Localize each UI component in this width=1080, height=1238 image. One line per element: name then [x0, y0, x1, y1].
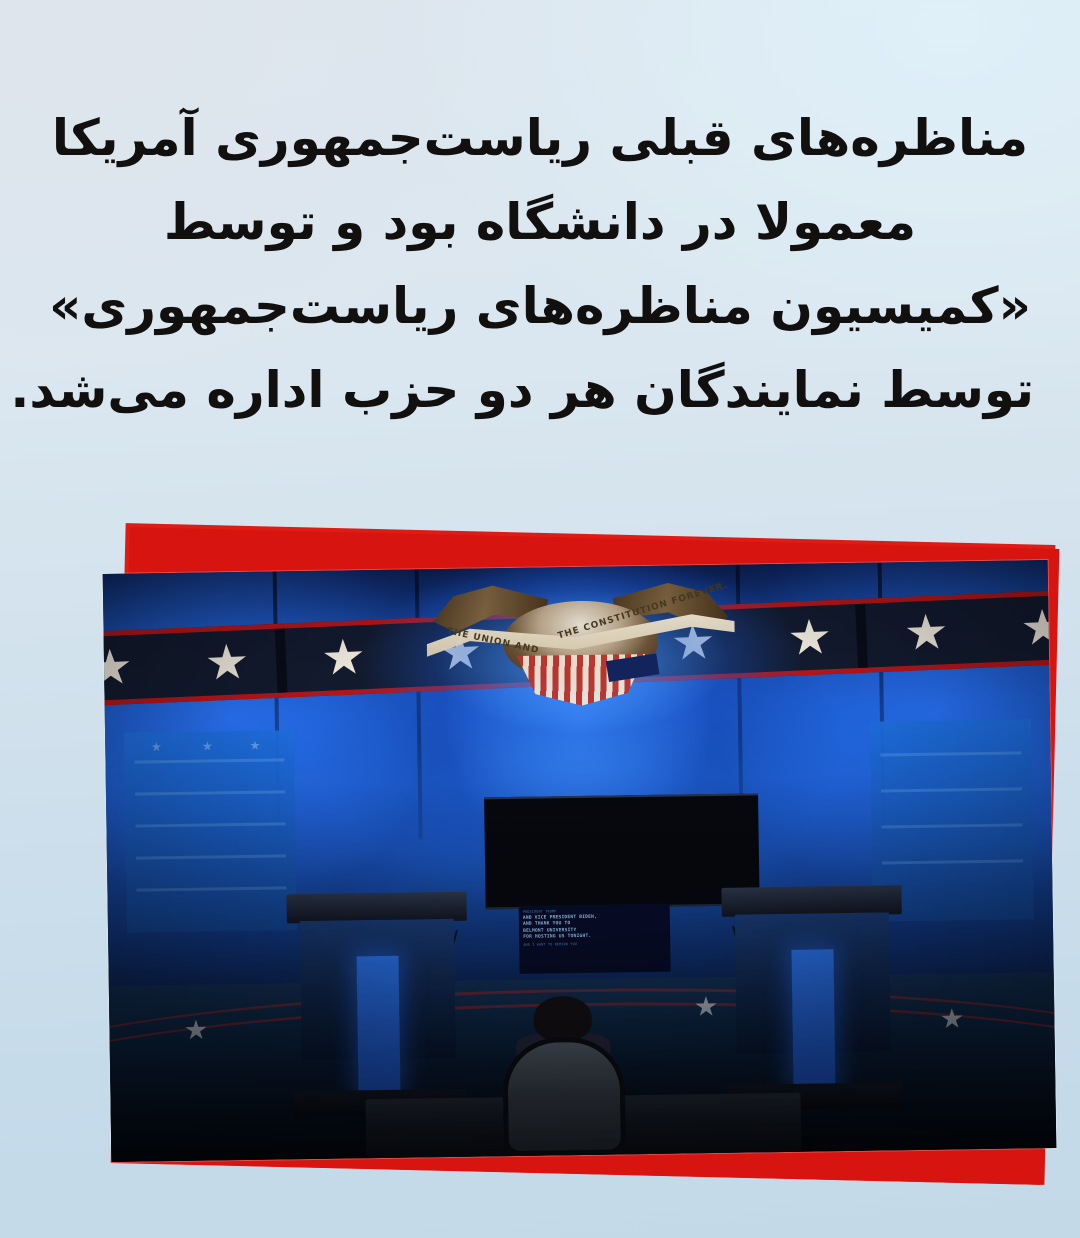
- band-star-icon: [322, 638, 364, 678]
- band-star-icon: [905, 613, 947, 653]
- photo-composite: THE UNION AND THE CONSTITUTION FOREVER.: [96, 524, 1080, 1184]
- center-stage-monitor: [484, 794, 760, 910]
- panel-star-icon: [151, 742, 161, 752]
- band-panel-gap: [855, 604, 868, 668]
- caption-line-1: مناظره‌های قبلی ریاست‌جمهوری آمریکا: [46, 96, 1034, 180]
- caption-block: مناظره‌های قبلی ریاست‌جمهوری آمریکا معمو…: [0, 96, 1080, 432]
- band-star-icon: [206, 643, 248, 683]
- left-podium-light: [357, 956, 401, 1095]
- panel-star-icon: [250, 740, 260, 750]
- debate-stage-photo: THE UNION AND THE CONSTITUTION FOREVER.: [103, 560, 1057, 1162]
- stage-scene: THE UNION AND THE CONSTITUTION FOREVER.: [103, 560, 1057, 1162]
- prompter-footer: AND I WANT TO REMIND YOU: [523, 940, 666, 949]
- caption-line-4: توسط نمایندگان هر دو حزب اداره می‌شد.: [46, 348, 1034, 432]
- caption-line-2: معمولا در دانشگاه بود و توسط: [46, 180, 1034, 264]
- right-podium: [731, 886, 895, 1112]
- band-star-icon: [103, 648, 131, 688]
- moderator-chair: [502, 1037, 627, 1156]
- panel-star-icon: [202, 741, 212, 751]
- band-panel-gap: [275, 629, 288, 693]
- left-podium: [296, 892, 460, 1118]
- left-led-panel: [124, 730, 297, 932]
- moderator-head: [533, 996, 592, 1041]
- right-podium-light: [791, 949, 835, 1088]
- teleprompter-screen: PRESIDENT TRUMP AND VICE PRESIDENT BIDEN…: [519, 904, 671, 974]
- eagle-emblem: THE UNION AND THE CONSTITUTION FOREVER.: [419, 576, 742, 722]
- caption-line-3: «کمیسیون مناظره‌های ریاست‌جمهوری»: [46, 264, 1034, 348]
